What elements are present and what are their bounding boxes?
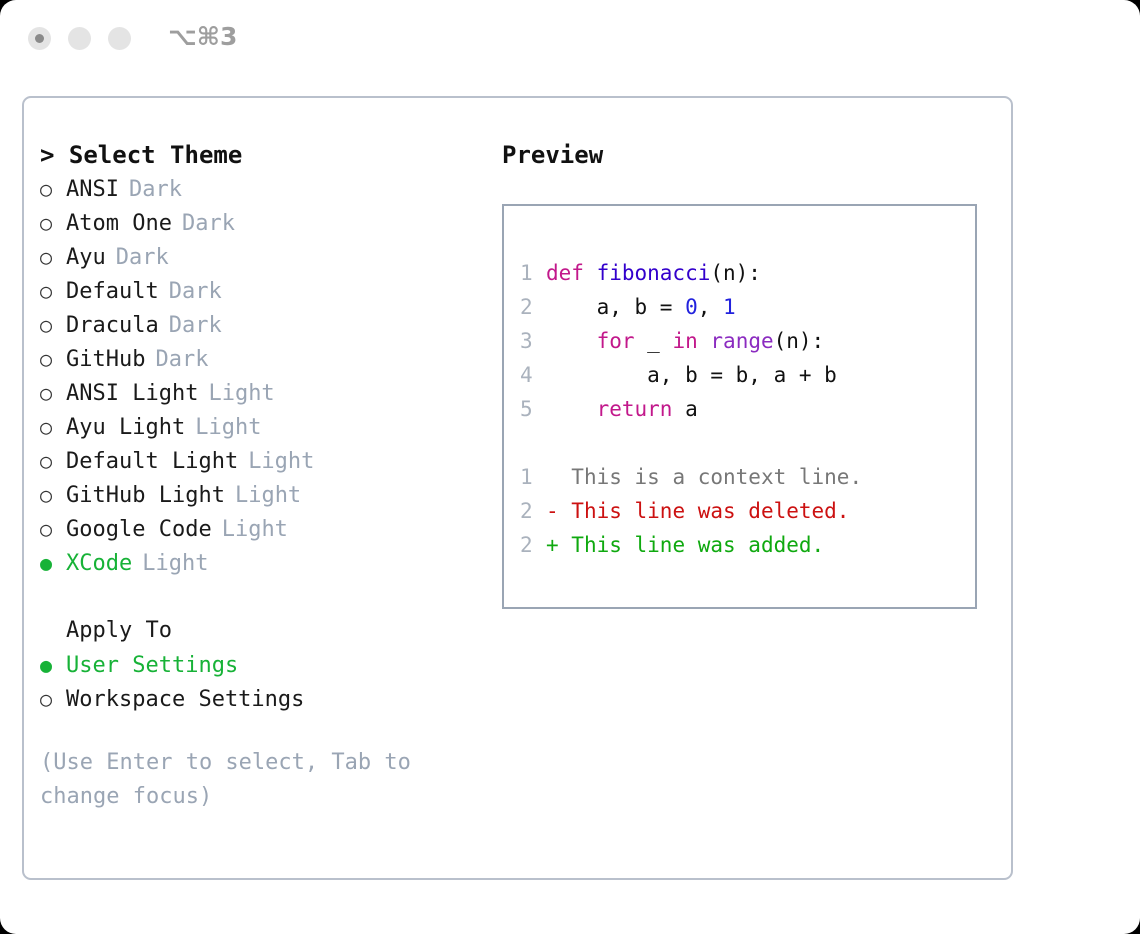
line-number: 4 xyxy=(520,358,546,392)
code-token-fn: fibonacci xyxy=(597,261,711,285)
theme-option-default-light[interactable]: ○Default LightLight xyxy=(40,444,480,478)
theme-option-label: Ayu xyxy=(66,241,106,275)
radio-unselected-icon[interactable]: ○ xyxy=(40,376,66,410)
window-dot-active-icon[interactable] xyxy=(28,27,51,50)
theme-option-label: GitHub xyxy=(66,343,145,377)
radio-unselected-icon[interactable]: ○ xyxy=(40,682,66,716)
line-number: 1 xyxy=(520,460,546,494)
code-token-num: 1 xyxy=(723,295,736,319)
code-token-kw: in xyxy=(672,329,697,353)
code-token-kw: return xyxy=(597,397,673,421)
code-token-txt: a, b = xyxy=(546,295,685,319)
diff-marker: - xyxy=(546,499,571,523)
code-token-kw: for xyxy=(597,329,635,353)
radio-unselected-icon[interactable]: ○ xyxy=(40,240,66,274)
theme-option-variant: Dark xyxy=(106,241,169,275)
theme-option-xcode[interactable]: ●XCodeLight xyxy=(40,546,480,580)
theme-option-label: Atom One xyxy=(66,207,172,241)
theme-option-variant: Light xyxy=(132,547,208,581)
line-number: 2 xyxy=(520,290,546,324)
theme-selector-column: > Select Theme ○ANSIDark○Atom OneDark○Ay… xyxy=(40,138,480,814)
theme-option-label: GitHub Light xyxy=(66,479,225,513)
diff-sample: 1 This is a context line.2- This line wa… xyxy=(520,460,967,562)
keyboard-hint-text: (Use Enter to select, Tab to change focu… xyxy=(40,746,445,814)
line-number: 3 xyxy=(520,324,546,358)
radio-unselected-icon[interactable]: ○ xyxy=(40,274,66,308)
code-token-txt xyxy=(698,329,711,353)
code-line: 5 return a xyxy=(520,392,967,426)
keyboard-shortcut-label: ⌥⌘3 xyxy=(168,22,237,51)
theme-option-ayu[interactable]: ○AyuDark xyxy=(40,240,480,274)
code-token-txt: a, b = b, a + b xyxy=(546,363,837,387)
theme-option-variant: Dark xyxy=(145,343,208,377)
apply-to-option-workspace-settings[interactable]: ○Workspace Settings xyxy=(40,682,480,716)
diff-text: This is a context line. xyxy=(571,465,862,489)
select-theme-heading: > Select Theme xyxy=(40,138,480,172)
diff-marker xyxy=(546,465,571,489)
radio-unselected-icon[interactable]: ○ xyxy=(40,478,66,512)
main-panel: > Select Theme ○ANSIDark○Atom OneDark○Ay… xyxy=(22,96,1013,880)
theme-option-ansi-light[interactable]: ○ANSI LightLight xyxy=(40,376,480,410)
diff-marker: + xyxy=(546,533,571,557)
theme-option-github-light[interactable]: ○GitHub LightLight xyxy=(40,478,480,512)
apply-to-list[interactable]: ●User Settings○Workspace Settings xyxy=(40,648,480,716)
theme-option-label: Default Light xyxy=(66,445,238,479)
theme-option-atom-one[interactable]: ○Atom OneDark xyxy=(40,206,480,240)
theme-list[interactable]: ○ANSIDark○Atom OneDark○AyuDark○DefaultDa… xyxy=(40,172,480,580)
theme-option-variant: Dark xyxy=(172,207,235,241)
apply-to-option-user-settings[interactable]: ●User Settings xyxy=(40,648,480,682)
theme-option-label: Google Code xyxy=(66,513,212,547)
list-spacer xyxy=(40,580,480,614)
code-token-txt xyxy=(546,329,597,353)
line-number: 2 xyxy=(520,494,546,528)
radio-unselected-icon[interactable]: ○ xyxy=(40,342,66,376)
diff-line-ctx: 1 This is a context line. xyxy=(520,460,967,494)
theme-option-variant: Light xyxy=(225,479,301,513)
code-line: 4 a, b = b, a + b xyxy=(520,358,967,392)
theme-option-label: XCode xyxy=(66,547,132,581)
code-token-txt: _ xyxy=(635,329,673,353)
theme-option-variant: Light xyxy=(185,411,261,445)
code-token-txt xyxy=(546,397,597,421)
theme-option-ayu-light[interactable]: ○Ayu LightLight xyxy=(40,410,480,444)
theme-option-ansi[interactable]: ○ANSIDark xyxy=(40,172,480,206)
theme-option-variant: Light xyxy=(238,445,314,479)
theme-option-github[interactable]: ○GitHubDark xyxy=(40,342,480,376)
theme-option-label: Dracula xyxy=(66,309,159,343)
apply-to-heading: Apply To xyxy=(40,614,480,648)
theme-option-default[interactable]: ○DefaultDark xyxy=(40,274,480,308)
code-line: 1def fibonacci(n): xyxy=(520,256,967,290)
preview-column: Preview 1def fibonacci(n):2 a, b = 0, 13… xyxy=(502,138,1002,609)
radio-unselected-icon[interactable]: ○ xyxy=(40,206,66,240)
radio-unselected-icon[interactable]: ○ xyxy=(40,444,66,478)
code-token-txt: (n): xyxy=(774,329,825,353)
preview-code-area: 1def fibonacci(n):2 a, b = 0, 13 for _ i… xyxy=(520,256,967,562)
apply-to-option-label: Workspace Settings xyxy=(66,683,304,717)
window-dot-active-center-icon xyxy=(35,34,44,43)
diff-line-add: 2+ This line was added. xyxy=(520,528,967,562)
apply-to-option-label: User Settings xyxy=(66,649,238,683)
code-line: 2 a, b = 0, 1 xyxy=(520,290,967,324)
code-token-bi: range xyxy=(710,329,773,353)
theme-option-label: ANSI Light xyxy=(66,377,198,411)
theme-option-label: Ayu Light xyxy=(66,411,185,445)
theme-option-variant: Dark xyxy=(159,309,222,343)
code-diff-separator xyxy=(520,426,967,460)
app-window: ⌥⌘3 > Select Theme ○ANSIDark○Atom OneDar… xyxy=(0,0,1140,934)
theme-option-variant: Light xyxy=(212,513,288,547)
theme-option-dracula[interactable]: ○DraculaDark xyxy=(40,308,480,342)
radio-unselected-icon[interactable]: ○ xyxy=(40,172,66,206)
diff-text: This line was deleted. xyxy=(571,499,849,523)
window-dot-3-icon[interactable] xyxy=(108,27,131,50)
radio-unselected-icon[interactable]: ○ xyxy=(40,410,66,444)
preview-box: 1def fibonacci(n):2 a, b = 0, 13 for _ i… xyxy=(502,204,977,609)
theme-option-label: ANSI xyxy=(66,173,119,207)
theme-option-variant: Light xyxy=(198,377,274,411)
radio-unselected-icon[interactable]: ○ xyxy=(40,512,66,546)
title-bar: ⌥⌘3 xyxy=(0,0,1140,80)
code-token-txt: , xyxy=(698,295,723,319)
window-dot-2-icon[interactable] xyxy=(68,27,91,50)
line-number: 5 xyxy=(520,392,546,426)
theme-option-label: Default xyxy=(66,275,159,309)
code-token-txt: (n): xyxy=(710,261,761,285)
code-token-num: 0 xyxy=(685,295,698,319)
radio-unselected-icon[interactable]: ○ xyxy=(40,308,66,342)
diff-line-del: 2- This line was deleted. xyxy=(520,494,967,528)
theme-option-variant: Dark xyxy=(119,173,182,207)
line-number: 2 xyxy=(520,528,546,562)
radio-selected-icon[interactable]: ● xyxy=(40,648,66,682)
radio-selected-icon[interactable]: ● xyxy=(40,546,66,580)
theme-option-variant: Dark xyxy=(159,275,222,309)
theme-option-google-code[interactable]: ○Google CodeLight xyxy=(40,512,480,546)
preview-heading: Preview xyxy=(502,138,1002,172)
diff-text: This line was added. xyxy=(571,533,824,557)
code-token-kw: def xyxy=(546,261,597,285)
code-sample: 1def fibonacci(n):2 a, b = 0, 13 for _ i… xyxy=(520,256,967,426)
code-token-txt: a xyxy=(672,397,697,421)
line-number: 1 xyxy=(520,256,546,290)
code-line: 3 for _ in range(n): xyxy=(520,324,967,358)
